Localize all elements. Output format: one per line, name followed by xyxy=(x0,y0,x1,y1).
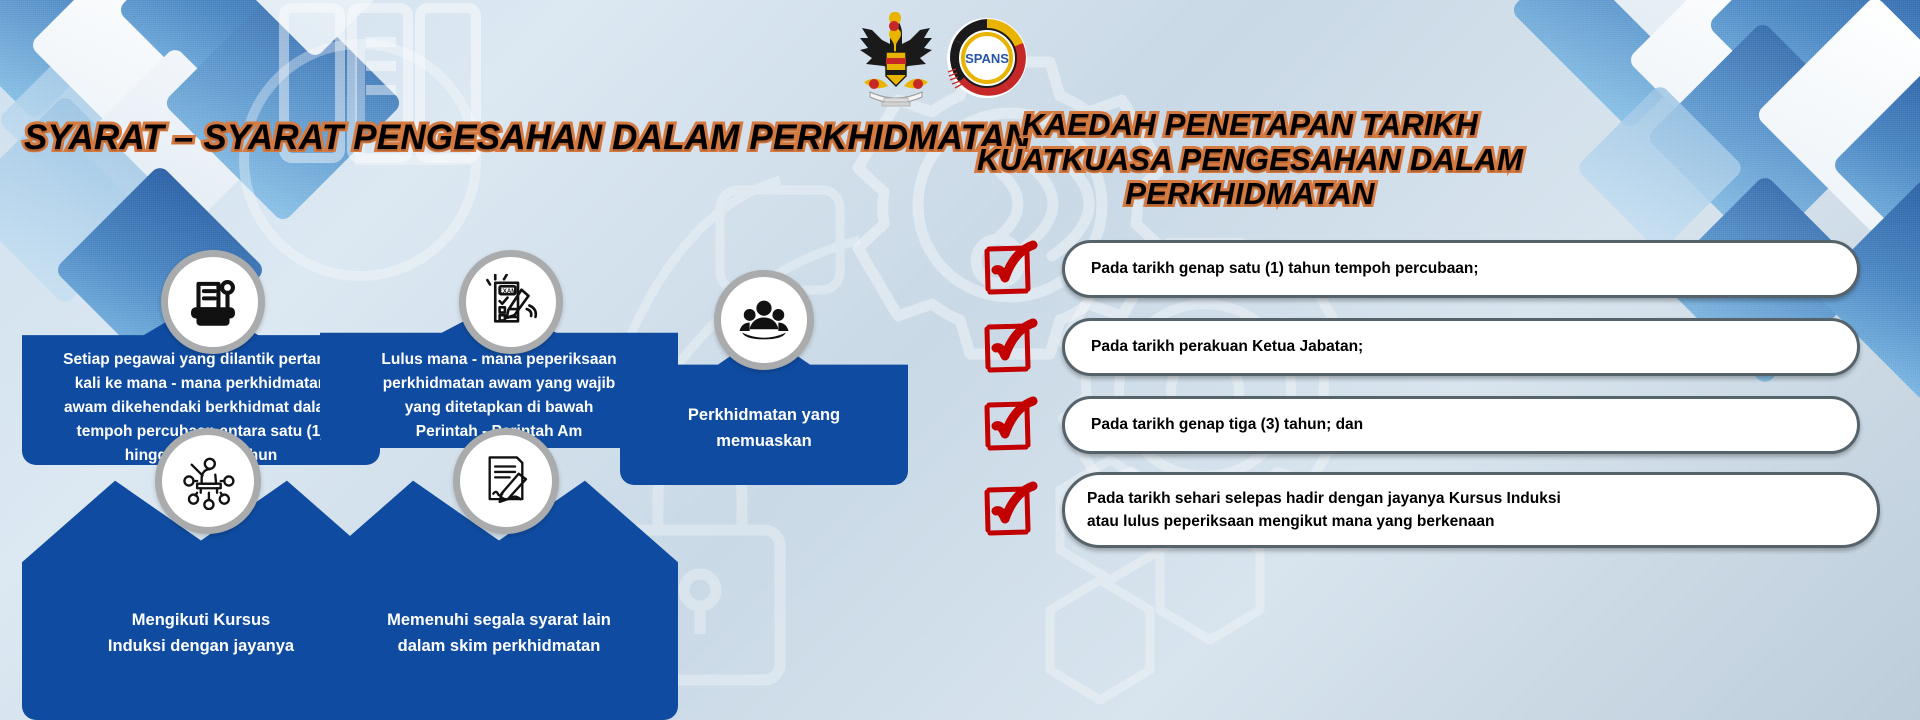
checklist-item-2[interactable]: Pada tarikh perakuan Ketua Jabatan; xyxy=(980,316,1880,378)
condition-card-5[interactable]: Memenuhi segala syarat lain dalam skim p… xyxy=(320,448,678,720)
page-title-right-line1: KAEDAH PENETAPAN TARIKH xyxy=(920,108,1580,143)
bg-diamond xyxy=(1627,0,1853,173)
checklist-item-4[interactable]: Pada tarikh sehari selepas hadir dengan … xyxy=(980,472,1880,548)
bg-diamond xyxy=(117,0,343,123)
logo-bar: SPANS xyxy=(852,6,1028,110)
red-checkbox-icon xyxy=(980,480,1040,540)
bg-diamond xyxy=(216,0,414,59)
checklist-item-2-text: Pada tarikh perakuan Ketua Jabatan; xyxy=(1091,335,1363,358)
page-title-right-line3: PERKHIDMATAN xyxy=(920,177,1580,212)
red-checkbox-icon xyxy=(980,239,1040,299)
checklist-item-1[interactable]: Pada tarikh genap satu (1) tahun tempoh … xyxy=(980,238,1880,300)
checklist-item-4-text-line1: Pada tarikh sehari selepas hadir dengan … xyxy=(1087,487,1855,510)
page-title-right: KAEDAH PENETAPAN TARIKH KUATKUASA PENGES… xyxy=(920,108,1580,212)
checklist-item-3-pill[interactable]: Pada tarikh genap tiga (3) tahun; dan xyxy=(1062,396,1860,454)
bg-diamond xyxy=(1594,0,1806,86)
checklist-item-1-text: Pada tarikh genap satu (1) tahun tempoh … xyxy=(1091,257,1479,280)
sarawak-crest-icon xyxy=(852,6,940,110)
bg-diamond xyxy=(1575,83,1745,253)
red-checkbox-icon xyxy=(980,395,1040,455)
checklist-item-3[interactable]: Pada tarikh genap tiga (3) tahun; dan xyxy=(980,394,1880,456)
certificate-stamp-icon xyxy=(161,250,265,354)
page-title-right-line2: KUATKUASA PENGESAHAN DALAM xyxy=(920,143,1580,178)
bg-diamond xyxy=(1755,0,1920,235)
checklist-item-1-pill[interactable]: Pada tarikh genap satu (1) tahun tempoh … xyxy=(1062,240,1860,298)
checklist-item-4-pill[interactable]: Pada tarikh sehari selepas hadir dengan … xyxy=(1062,472,1880,548)
spans-logo-icon: SPANS xyxy=(946,17,1028,99)
condition-card-5-text: Memenuhi segala syarat lain dalam skim p… xyxy=(320,608,678,659)
people-group-icon xyxy=(714,270,814,370)
checklist-item-3-text: Pada tarikh genap tiga (3) tahun; dan xyxy=(1091,413,1363,436)
exam-checklist-pencil-icon: EXAM xyxy=(459,250,563,354)
training-presentation-icon xyxy=(155,428,261,534)
bg-diamond xyxy=(0,0,141,121)
condition-card-3-text: Perkhidmatan yang memuaskan xyxy=(620,403,908,454)
checklist-item-4-text-line2: atau lulus peperiksaan mengikut mana yan… xyxy=(1087,510,1855,533)
checklist-item-2-pill[interactable]: Pada tarikh perakuan Ketua Jabatan; xyxy=(1062,318,1860,376)
bg-diamond xyxy=(1707,0,1920,145)
page-title-left: SYARAT – SYARAT PENGESAHAN DALAM PERKHID… xyxy=(24,118,1031,157)
bg-diamond xyxy=(163,0,403,223)
red-checkbox-icon xyxy=(980,317,1040,377)
signing-document-icon xyxy=(453,428,559,534)
infographic-canvas: SPANS SYARAT – SYARAT PENGESAHAN DALAM P… xyxy=(0,0,1920,720)
svg-text:EXAM: EXAM xyxy=(499,288,517,295)
bg-diamond xyxy=(1646,21,1879,254)
svg-text:SPANS: SPANS xyxy=(965,51,1009,66)
